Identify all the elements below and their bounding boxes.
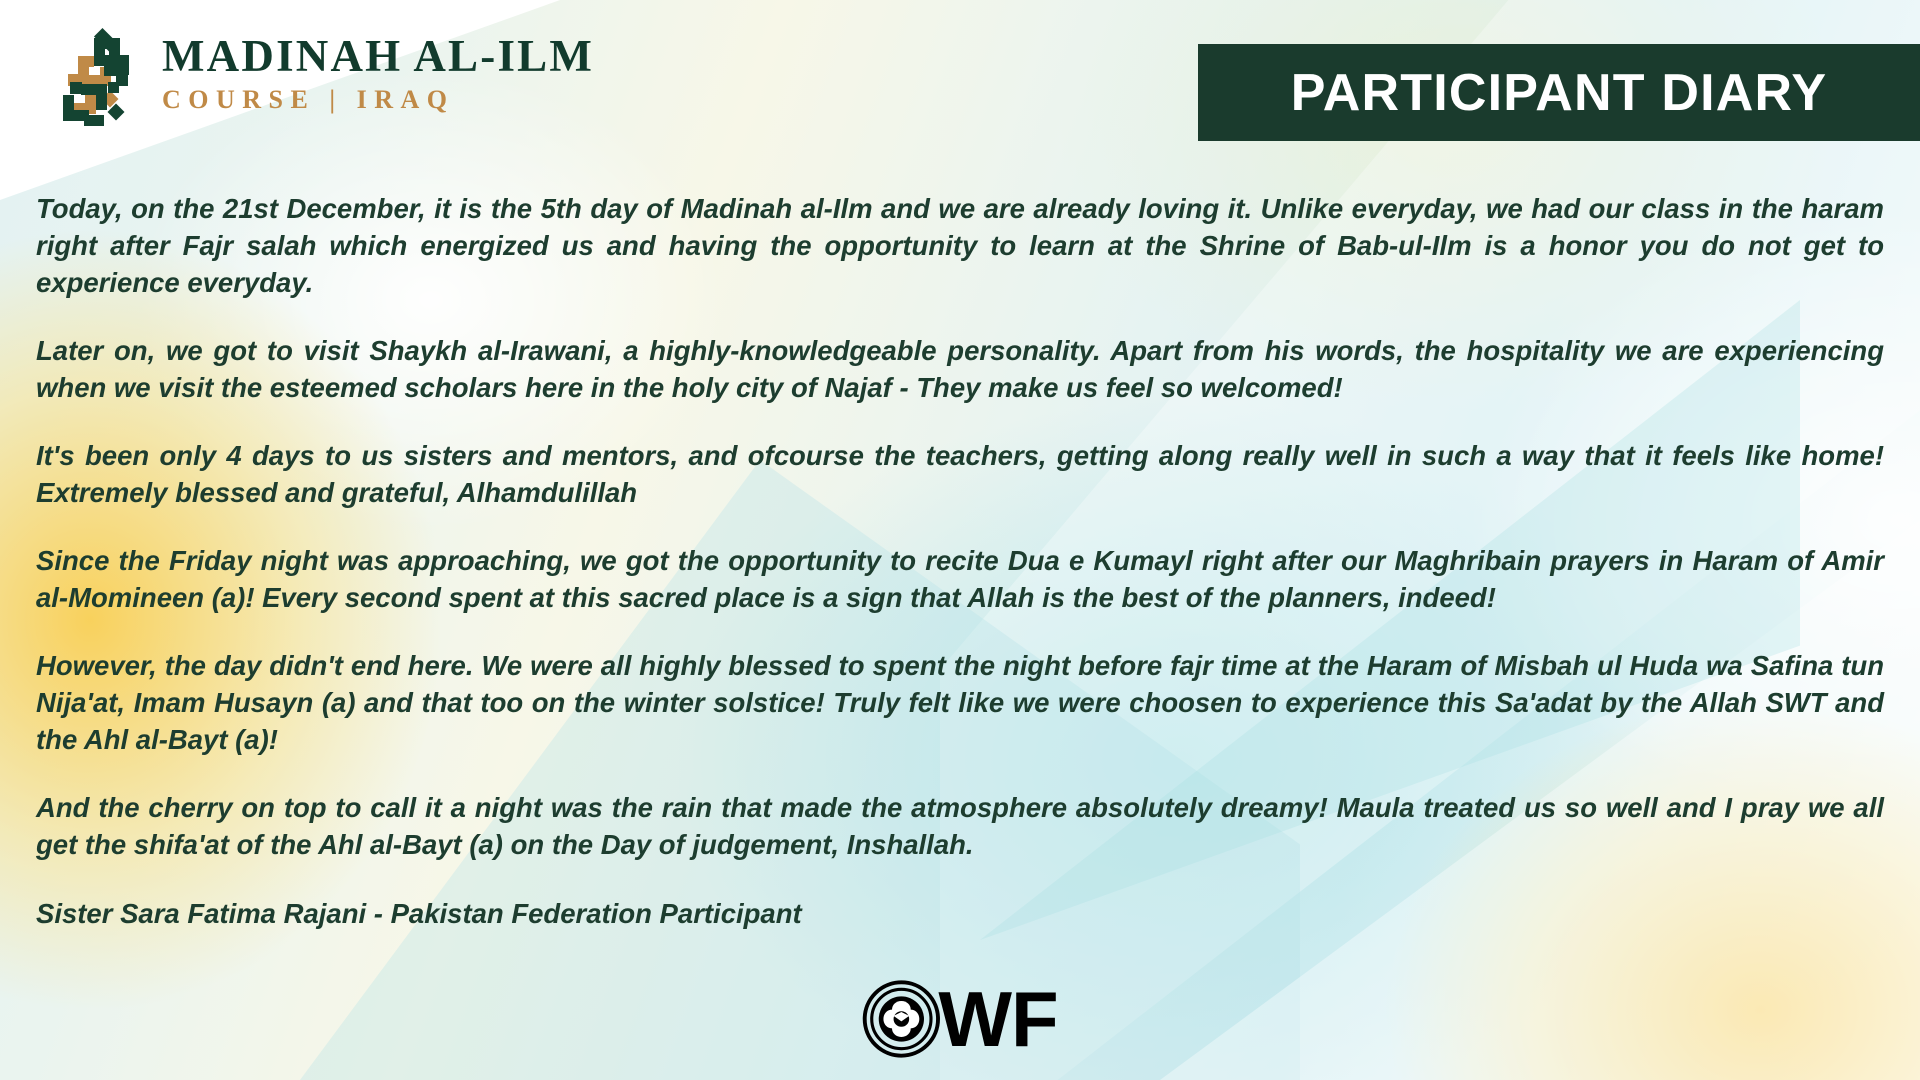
wf-circular-emblem-icon — [862, 980, 940, 1058]
brand-title: MADINAH AL-ILM — [162, 34, 594, 80]
brand-subtitle: COURSE | IRAQ — [162, 84, 594, 117]
diary-signature: Sister Sara Fatima Rajani - Pakistan Fed… — [36, 895, 1884, 932]
participant-diary-banner: PARTICIPANT DIARY — [1198, 44, 1920, 141]
diary-paragraph: Today, on the 21st December, it is the 5… — [36, 190, 1884, 301]
wf-wordmark: WF — [938, 980, 1057, 1058]
diary-paragraph: Later on, we got to visit Shaykh al-Iraw… — [36, 332, 1884, 406]
brand-lockup: MADINAH AL-ILM COURSE | IRAQ — [48, 22, 594, 128]
participant-diary-banner-label: PARTICIPANT DIARY — [1291, 63, 1828, 123]
participant-diary-page: MADINAH AL-ILM COURSE | IRAQ PARTICIPANT… — [0, 0, 1920, 1080]
diary-paragraph: However, the day didn't end here. We wer… — [36, 647, 1884, 758]
diary-paragraph: It's been only 4 days to us sisters and … — [36, 437, 1884, 511]
wf-logo: WF — [862, 980, 1057, 1058]
diary-paragraph: Since the Friday night was approaching, … — [36, 542, 1884, 616]
page-header: MADINAH AL-ILM COURSE | IRAQ PARTICIPANT… — [0, 0, 1920, 150]
madinah-al-ilm-logo-icon — [48, 22, 140, 128]
diary-paragraph: And the cherry on top to call it a night… — [36, 789, 1884, 863]
brand-text: MADINAH AL-ILM COURSE | IRAQ — [162, 34, 594, 116]
diary-body: Today, on the 21st December, it is the 5… — [36, 190, 1884, 932]
